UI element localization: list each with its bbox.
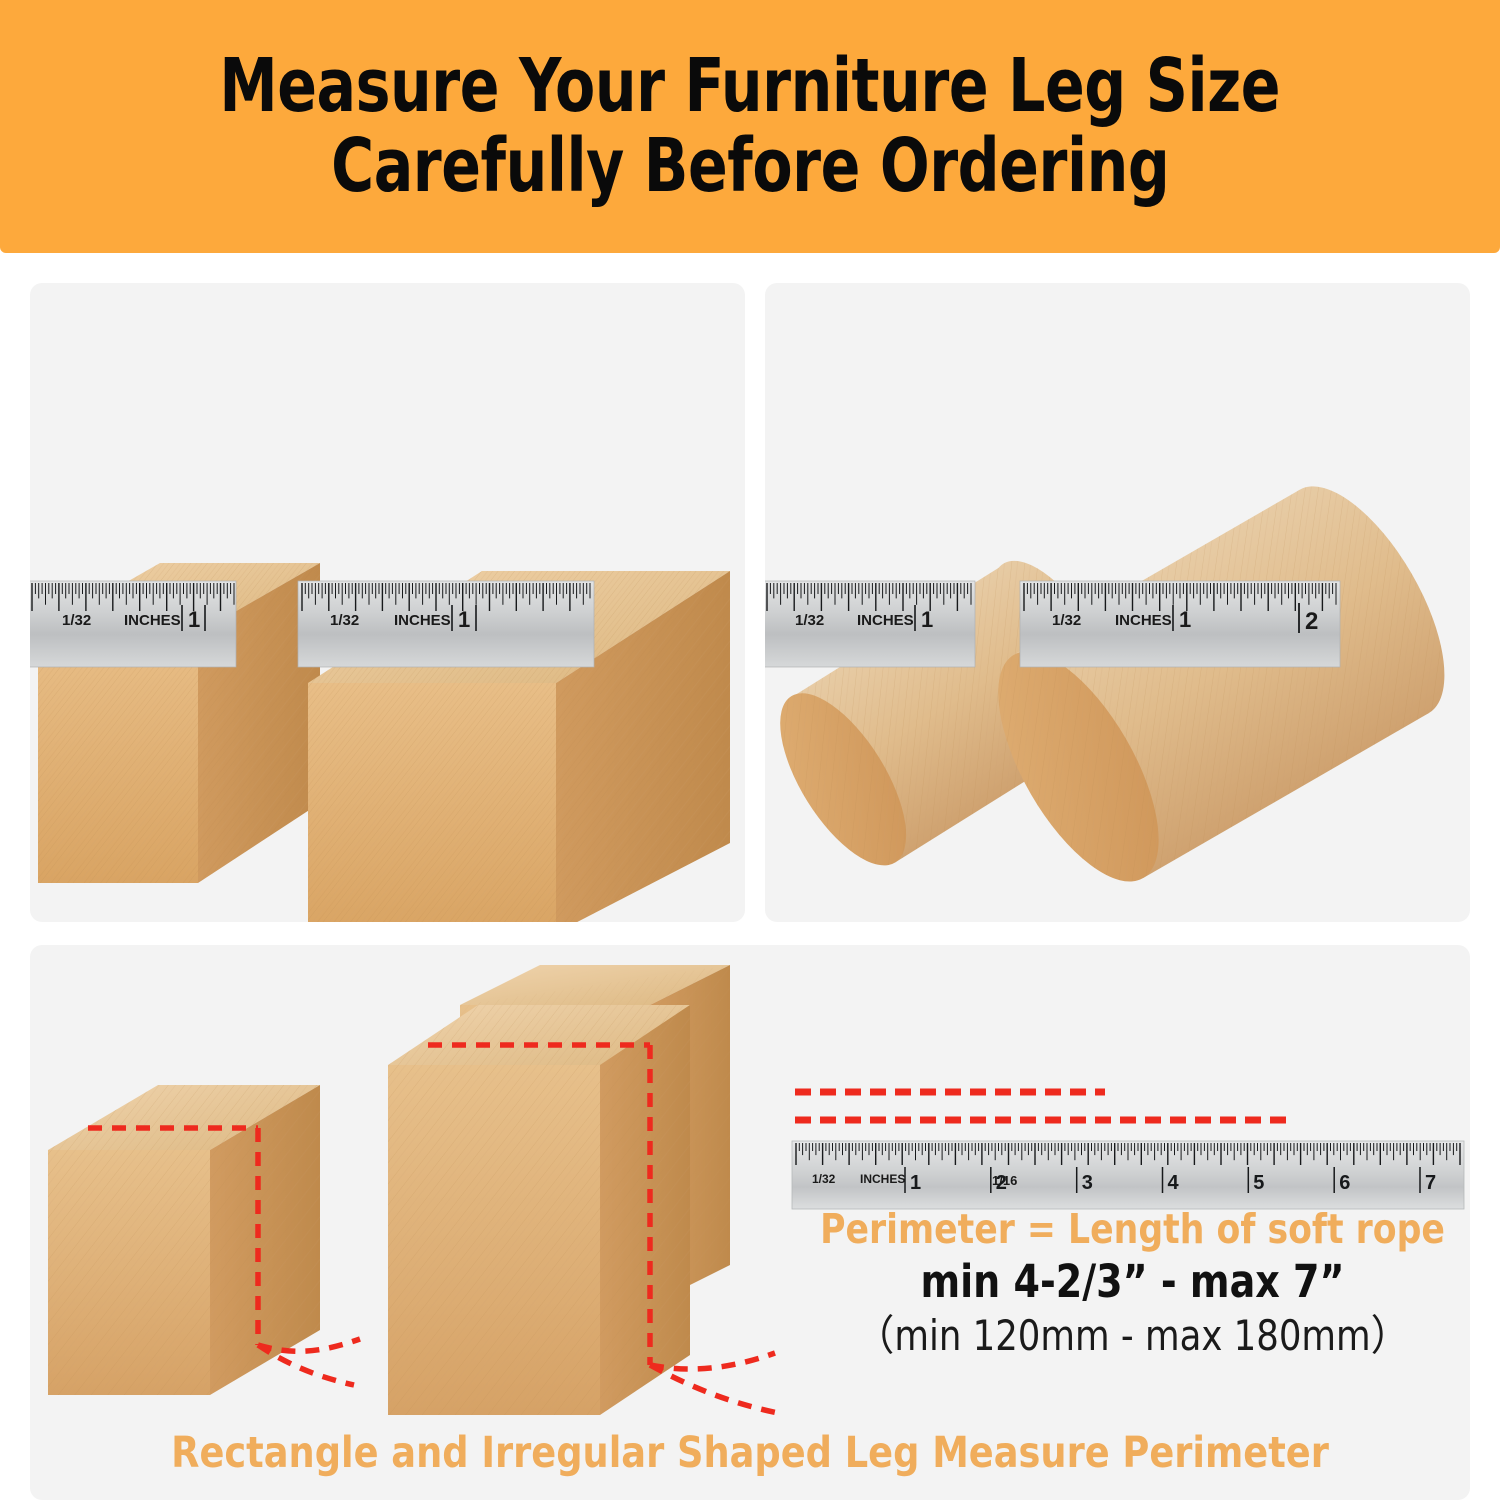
ruler-fraction-label: 1/32 xyxy=(812,1172,836,1186)
ruler-mark-2: 2 xyxy=(1305,608,1318,635)
round-leg-illustration: 1/32 INCHES 1 1/32 INCHES 1 2 xyxy=(765,283,1470,922)
header-title-line-2: Carefully Before Ordering xyxy=(331,127,1169,207)
ruler-mark-7: 7 xyxy=(1425,1172,1436,1194)
ruler-unit-label: INCHES xyxy=(124,612,181,629)
ruler-fraction-label: 1/32 xyxy=(330,612,359,629)
rope-length-lines xyxy=(795,1092,1295,1120)
ruler-mark-6: 6 xyxy=(1339,1172,1350,1194)
ruler-fraction-label: 1/32 xyxy=(62,612,91,629)
ruler-mark-5: 5 xyxy=(1253,1172,1264,1194)
ruler-mark-4: 4 xyxy=(1168,1172,1180,1194)
perimeter-caption-sub: （min 120mm - max 180mm） xyxy=(815,1312,1450,1360)
ruler-mark-3: 3 xyxy=(1082,1172,1093,1194)
long-ruler: 1/32 INCHES 1/16 1234567 xyxy=(792,1141,1464,1209)
ruler-round-small: 1/32 INCHES 1 xyxy=(765,581,975,667)
perimeter-caption: Perimeter = Length of soft rope min 4-2/… xyxy=(795,1207,1470,1360)
perimeter-caption-main: min 4-2/3” - max 7” xyxy=(815,1256,1450,1308)
ruler-mark-1: 1 xyxy=(458,607,470,632)
ruler-unit-label: INCHES xyxy=(857,612,914,629)
panel-square-leg: 1/32 INCHES 1 1/32 INCHES 1 Square Leg d… xyxy=(30,283,745,922)
ruler-unit-label: INCHES xyxy=(1115,612,1172,629)
panel-round-leg: 1/32 INCHES 1 1/32 INCHES 1 2 Round Leg … xyxy=(765,283,1470,922)
square-leg-illustration: 1/32 INCHES 1 1/32 INCHES 1 xyxy=(30,283,745,922)
ruler-square-large: 1/32 INCHES 1 xyxy=(298,581,594,667)
infographic-page: Measure Your Furniture Leg Size Carefull… xyxy=(0,0,1500,1500)
panel-perimeter: 1/32 INCHES 1/16 1234567 Perimeter = Len… xyxy=(30,945,1470,1500)
header-banner: Measure Your Furniture Leg Size Carefull… xyxy=(0,0,1500,253)
large-round-leg xyxy=(966,462,1470,905)
header-title-line-1: Measure Your Furniture Leg Size xyxy=(220,47,1281,127)
ruler-mark-1: 1 xyxy=(921,607,933,632)
ruler-fraction-label: 1/32 xyxy=(795,612,824,629)
perimeter-caption-title: Perimeter = Length of soft rope xyxy=(815,1207,1450,1252)
ruler-square-small: 1/32 INCHES 1 xyxy=(30,581,236,667)
small-rect-block xyxy=(48,1085,320,1395)
ruler-mark-1: 1 xyxy=(910,1172,921,1194)
perimeter-footer-note: Rectangle and Irregular Shaped Leg Measu… xyxy=(66,1428,1434,1478)
ruler-mark-1: 1 xyxy=(1179,607,1191,632)
ruler-fraction-label: 1/32 xyxy=(1052,612,1081,629)
large-rect-block xyxy=(388,1005,690,1415)
ruler-mark-1: 1 xyxy=(188,607,200,632)
ruler-mark-2: 2 xyxy=(996,1172,1007,1194)
ruler-unit-label: INCHES xyxy=(394,612,451,629)
ruler-unit-label: INCHES xyxy=(860,1172,905,1186)
ruler-round-large: 1/32 INCHES 1 2 xyxy=(1020,581,1340,667)
